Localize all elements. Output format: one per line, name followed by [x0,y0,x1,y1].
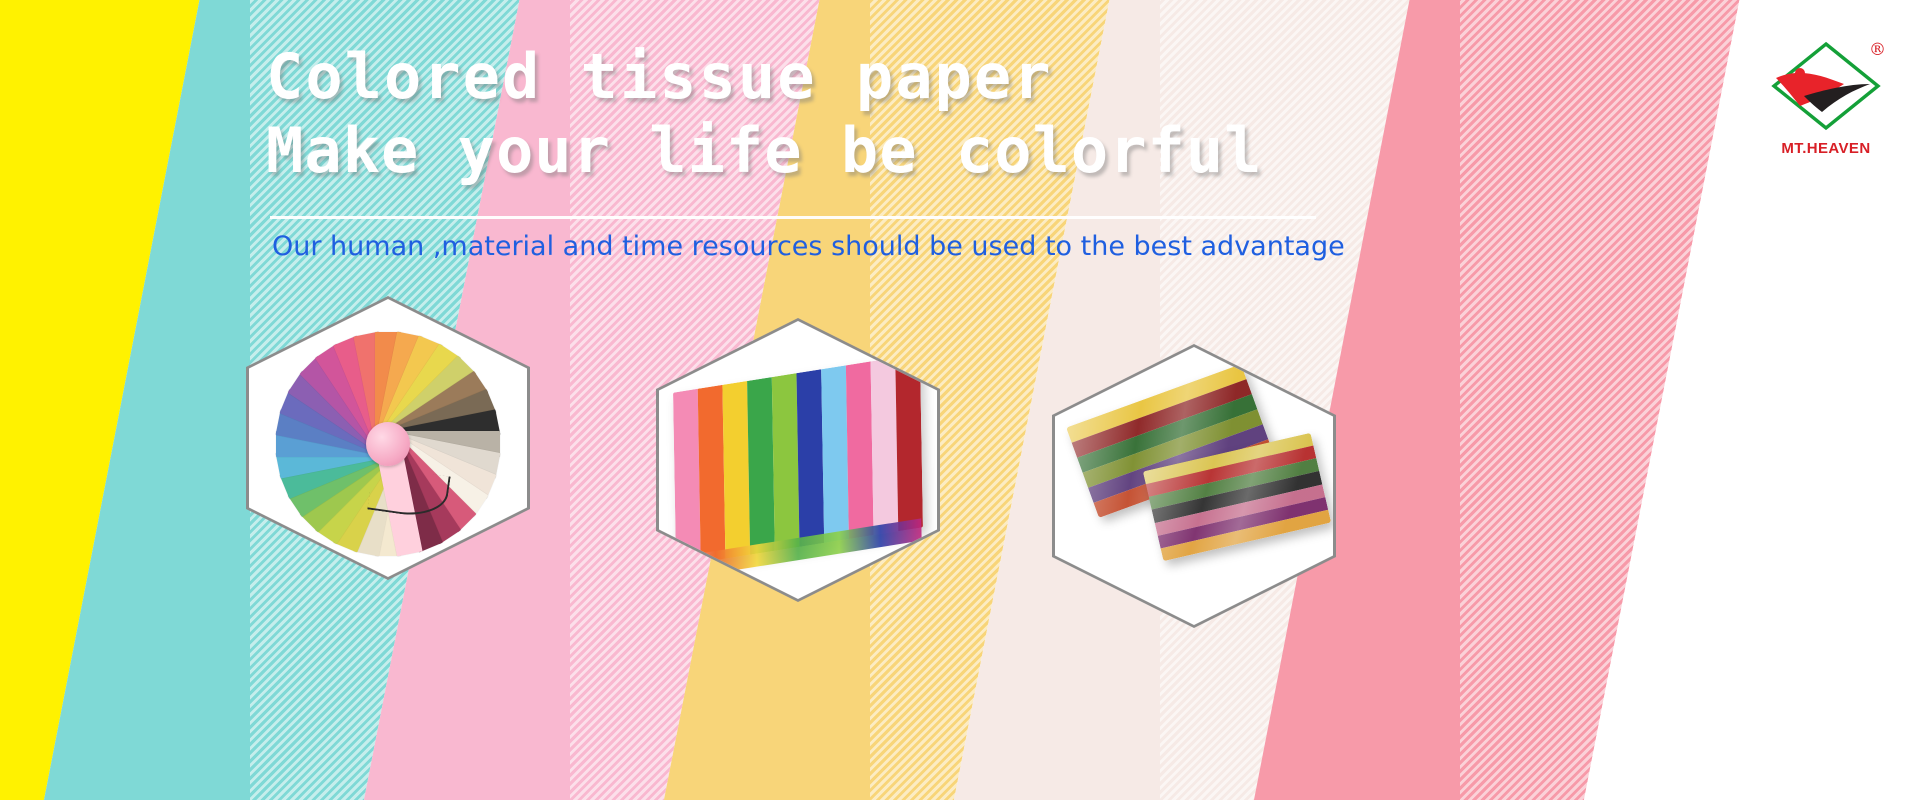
stack-sheet [722,381,750,559]
product-hexagon-rainbow-stack [656,318,940,602]
headline-divider [270,216,1316,219]
hexagon-frame [246,296,530,580]
stack-sheet [747,377,775,555]
brand-logo: ® MT.HEAVEN [1752,34,1900,157]
stack-sheet [772,373,800,551]
tagline-text: Our human ,material and time resources s… [272,230,1345,264]
hexagon-frame [656,318,940,602]
stack-sheet [846,361,874,539]
stack-sheet [871,358,899,536]
fan-knot [366,422,410,466]
stack-sheet [796,369,824,547]
headline-line-2: Make your life be colorful [266,114,1366,188]
product-hexagon-color-fan-wheel [246,296,530,580]
logo-mark: ® [1762,34,1890,138]
product-hexagon-wrapped-packs [1052,344,1336,628]
hexagon-content [1055,347,1333,625]
registered-trademark-icon: ® [1869,40,1886,60]
stack-sheet [821,365,849,543]
stack-sheet [895,354,923,532]
headline-block: Colored tissue paper Make your life be c… [266,40,1366,188]
hexagon-frame [1052,344,1336,628]
headline-line-1: Colored tissue paper [266,40,1366,114]
brand-name: MT.HEAVEN [1752,140,1900,157]
hexagon-content [249,299,527,577]
promotional-banner: Colored tissue paper Make your life be c… [0,0,1920,800]
stack-sheet [673,389,701,567]
stack-sheet [698,385,726,563]
hexagon-content [659,321,937,599]
